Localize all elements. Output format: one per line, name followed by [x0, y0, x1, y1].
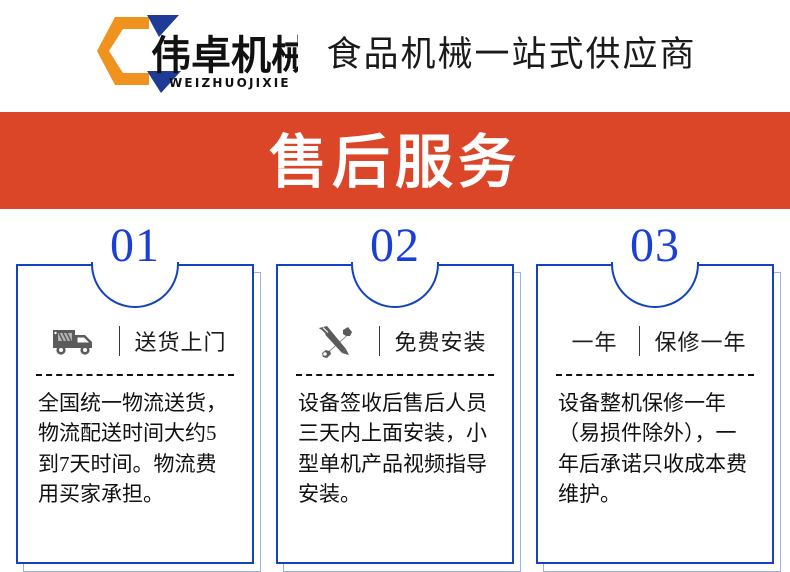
card-number: 02	[370, 222, 420, 270]
service-page: 伟卓机械 WEIZHUOJIXIE 食品机械一站式供应商 售后服务 01	[0, 0, 790, 572]
card-description: 设备签收后售后人员三天内上面安装，小型单机产品视频指导安装。	[296, 388, 494, 510]
wrench-screwdriver-icon	[303, 324, 365, 358]
card-divider	[556, 374, 754, 376]
card-title: 送货上门	[134, 325, 226, 357]
card-body: 免费安装 设备签收后售后人员三天内上面安装，小型单机产品视频指导安装。	[276, 264, 514, 564]
card-head: 一年 保修一年	[556, 318, 754, 364]
head-separator	[639, 326, 640, 356]
logo-chinese-text: 伟卓机械	[151, 33, 298, 79]
page-header: 伟卓机械 WEIZHUOJIXIE 食品机械一站式供应商	[0, 0, 790, 108]
card-divider	[36, 374, 234, 376]
service-card-installation: 02	[276, 264, 514, 564]
card-description: 设备整机保修一年（易损件除外），一年后承诺只收成本费维护。	[556, 388, 754, 510]
section-banner: 售后服务	[0, 112, 790, 209]
logo-mark-icon: 伟卓机械 WEIZHUOJIXIE	[93, 13, 298, 95]
card-body: 一年 保修一年 设备整机保修一年（易损件除外），一年后承诺只收成本费维护。	[536, 264, 774, 564]
warranty-period-text: 一年	[571, 325, 617, 357]
card-divider	[296, 374, 494, 376]
card-head: 送货上门	[36, 318, 234, 364]
service-card-delivery: 01	[16, 264, 254, 564]
head-separator	[379, 326, 380, 356]
card-number: 03	[630, 222, 680, 270]
service-cards: 01	[0, 236, 790, 572]
head-separator	[119, 326, 120, 356]
card-body: 送货上门 全国统一物流送货，物流配送时间大约5到7天时间。物流费用买家承担。	[16, 264, 254, 564]
warranty-period-label: 一年	[563, 325, 625, 357]
card-title: 免费安装	[394, 325, 486, 357]
card-description: 全国统一物流送货，物流配送时间大约5到7天时间。物流费用买家承担。	[36, 388, 234, 510]
card-head: 免费安装	[296, 318, 494, 364]
delivery-truck-icon	[43, 325, 105, 357]
logo-pinyin-text: WEIZHUOJIXIE	[169, 76, 291, 90]
card-number: 01	[110, 222, 160, 270]
brand-block: 伟卓机械 WEIZHUOJIXIE 食品机械一站式供应商	[93, 13, 696, 95]
company-logo: 伟卓机械 WEIZHUOJIXIE	[93, 13, 298, 95]
service-card-warranty: 03 一年 保修一年 设备整机保修一年（易损件除外），一年后承诺只收成本费维护。	[536, 264, 774, 564]
card-title: 保修一年	[654, 325, 746, 357]
section-title: 售后服务	[269, 133, 521, 191]
header-slogan: 食品机械一站式供应商	[326, 37, 696, 72]
